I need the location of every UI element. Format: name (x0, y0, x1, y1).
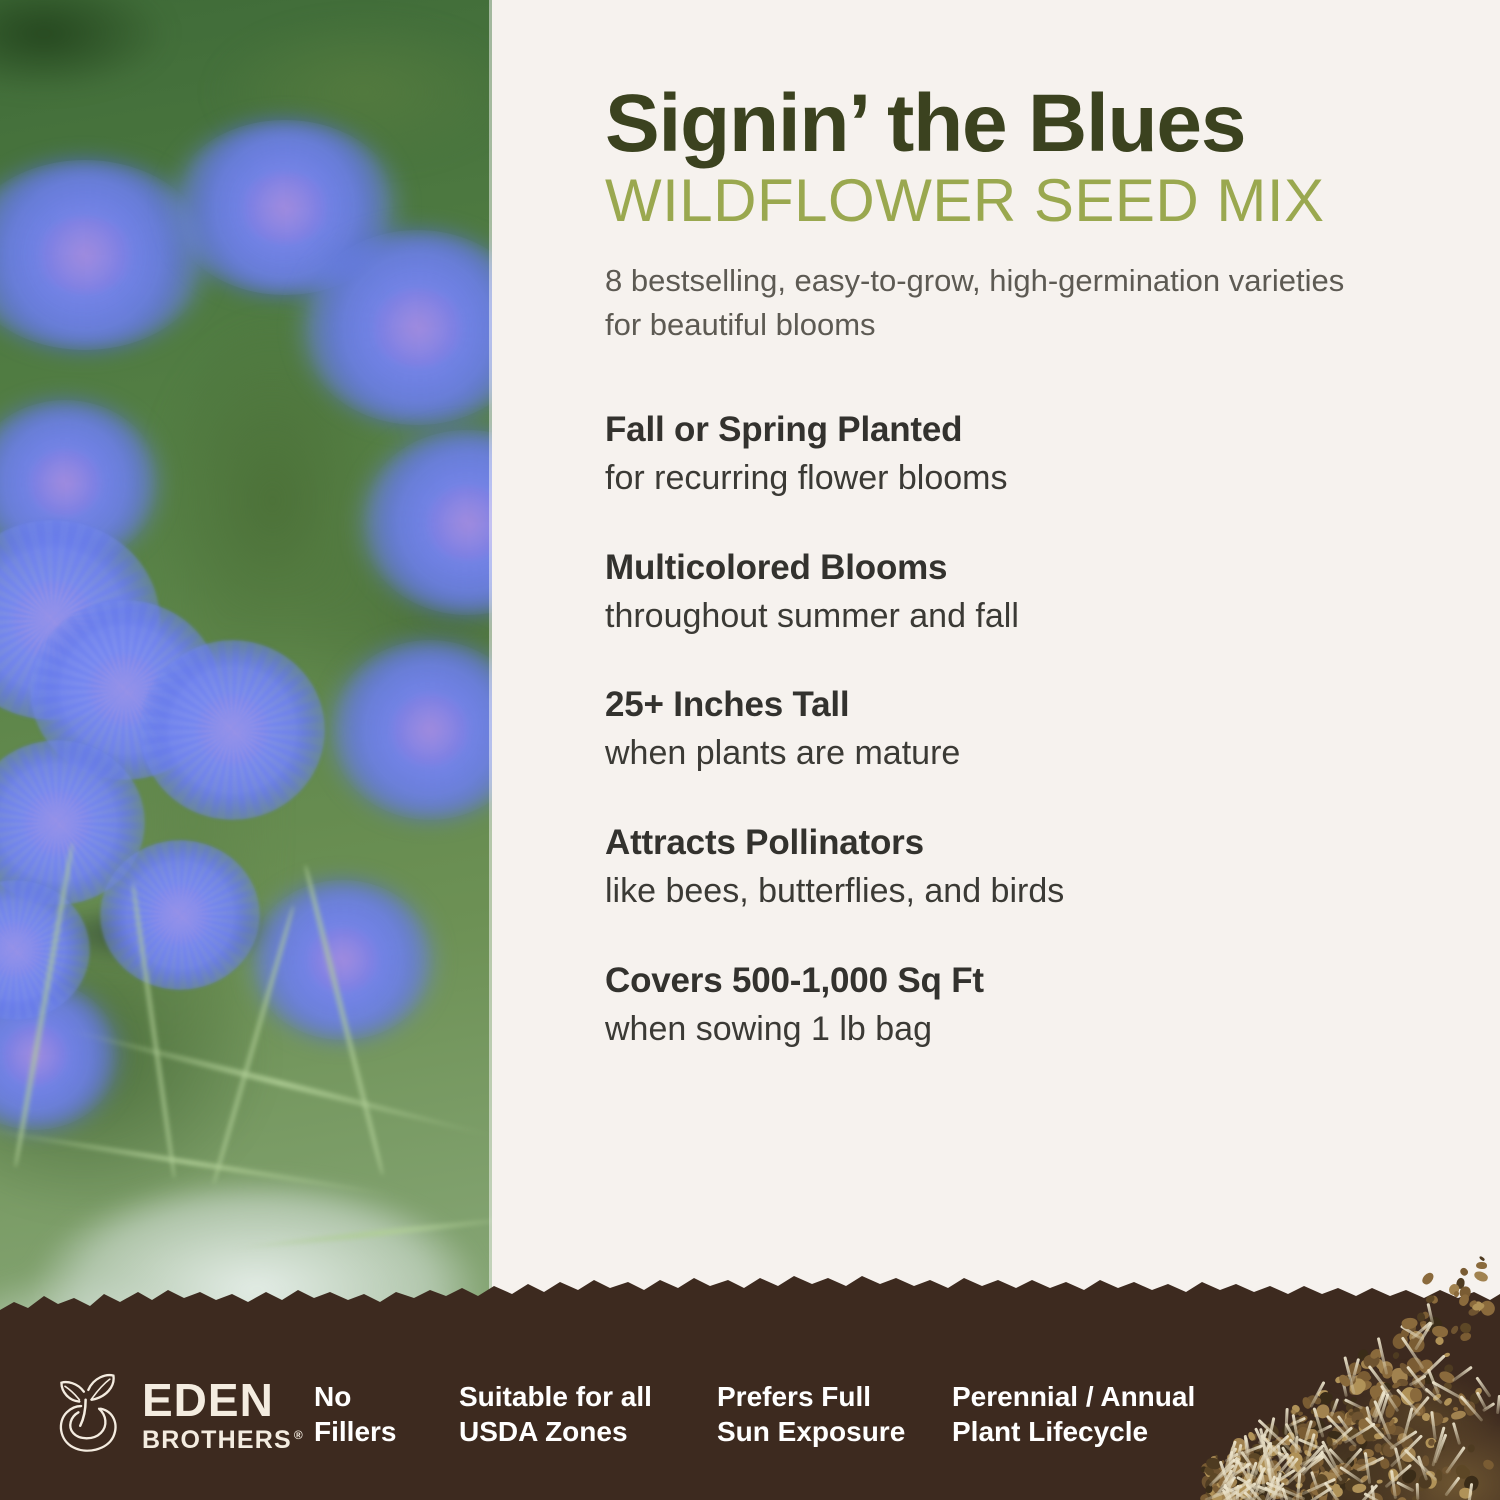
badge-plant-lifecycle: Perennial / Annual Plant Lifecycle (952, 1380, 1222, 1449)
badge-sun-exposure: Prefers Full Sun Exposure (717, 1380, 952, 1449)
feature-subtext: throughout summer and fall (605, 596, 1440, 637)
feature-heading: Covers 500-1,000 Sq Ft (605, 960, 1440, 1002)
feature-heading: Attracts Pollinators (605, 822, 1440, 864)
feature-item: Covers 500-1,000 Sq Ft when sowing 1 lb … (605, 960, 1440, 1050)
torn-soil-edge (0, 1266, 1500, 1336)
brand-subname: BROTHERS (142, 1428, 292, 1453)
feature-heading: 25+ Inches Tall (605, 684, 1440, 726)
footer-badges: No Fillers Suitable for all USDA Zones P… (314, 1380, 1500, 1449)
feature-subtext: like bees, butterflies, and birds (605, 871, 1440, 912)
feature-item: Attracts Pollinators like bees, butterfl… (605, 822, 1440, 912)
page-title: Signin’ the Blues (605, 84, 1440, 164)
eden-brothers-seedling-icon (52, 1372, 130, 1458)
product-description: 8 bestselling, easy-to-grow, high-germin… (605, 259, 1365, 347)
feature-list: Fall or Spring Planted for recurring flo… (605, 409, 1440, 1050)
badge-no-fillers: No Fillers (314, 1380, 459, 1449)
brand-name: EDEN (142, 1377, 304, 1423)
feature-item: 25+ Inches Tall when plants are mature (605, 684, 1440, 774)
feature-subtext: when sowing 1 lb bag (605, 1009, 1440, 1050)
feature-heading: Fall or Spring Planted (605, 409, 1440, 451)
page-subtitle: WILDFLOWER SEED MIX (605, 170, 1440, 232)
registered-mark: ® (294, 1429, 304, 1441)
feature-heading: Multicolored Blooms (605, 547, 1440, 589)
feature-subtext: when plants are mature (605, 733, 1440, 774)
footer-bar: EDEN BROTHERS® No Fillers Suitable for a… (0, 1330, 1500, 1500)
badge-usda-zones: Suitable for all USDA Zones (459, 1380, 717, 1449)
cornflower-bloom (100, 840, 260, 990)
feature-item: Multicolored Blooms throughout summer an… (605, 547, 1440, 637)
cornflower-bloom (140, 640, 325, 820)
feature-item: Fall or Spring Planted for recurring flo… (605, 409, 1440, 499)
feature-subtext: for recurring flower blooms (605, 458, 1440, 499)
product-photo (0, 0, 492, 1352)
brand-logo: EDEN BROTHERS® (52, 1372, 314, 1458)
product-infographic: Signin’ the Blues WILDFLOWER SEED MIX 8 … (0, 0, 1500, 1500)
